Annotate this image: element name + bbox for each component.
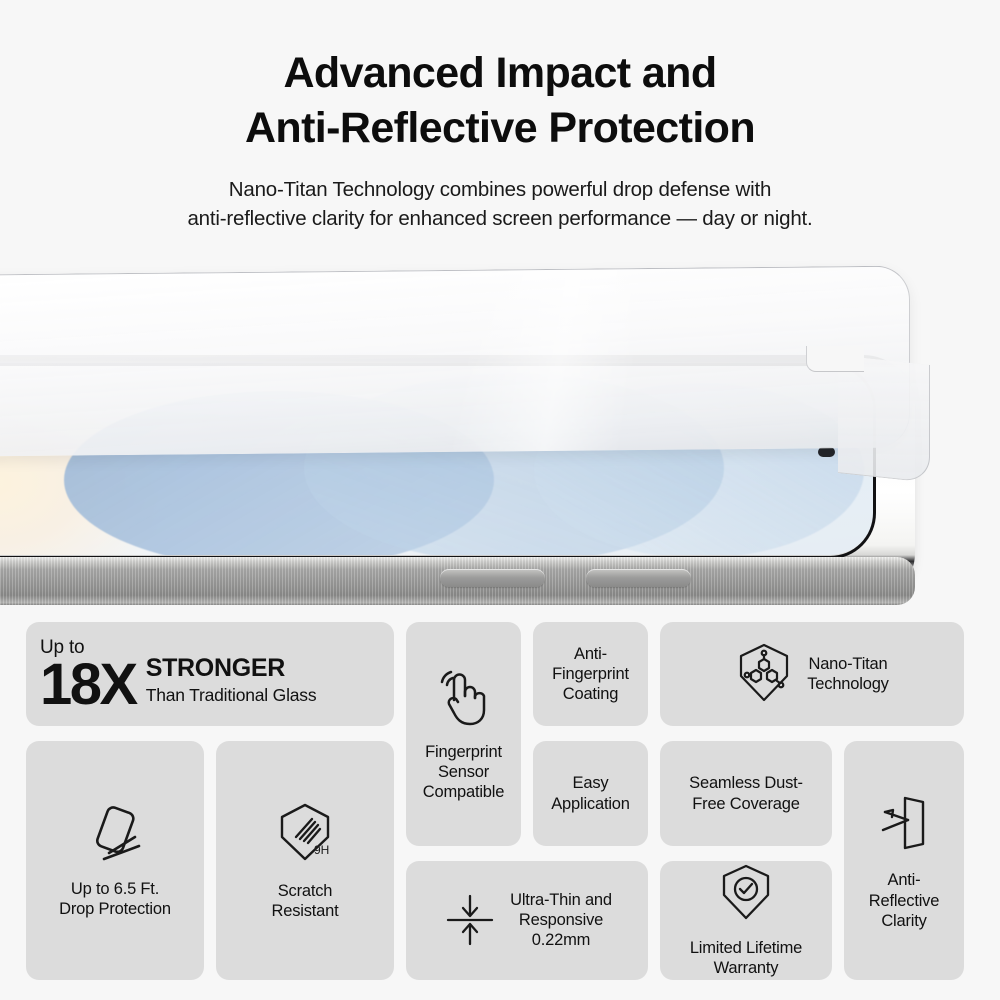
header-section: Advanced Impact and Anti-Reflective Prot… [0, 0, 1000, 233]
feature-card-warranty[interactable]: Limited LifetimeWarranty [660, 861, 832, 980]
thickness-arrows-icon [442, 890, 498, 950]
front-camera-icon [818, 447, 835, 457]
stronger-text: STRONGER Than Traditional Glass [146, 642, 317, 706]
phone-side-rail [0, 557, 915, 605]
glass-camera-cutout [806, 346, 864, 372]
falling-phone-icon [83, 803, 147, 865]
feature-card-fingerprint-sensor[interactable]: FingerprintSensorCompatible [406, 622, 521, 846]
feature-card-ultra-thin[interactable]: Ultra-Thin andResponsive0.22mm [406, 861, 648, 980]
feature-label-easy-application: EasyApplication [551, 773, 630, 813]
glass-corner-tail [838, 355, 930, 483]
feature-card-anti-reflective[interactable]: Anti-ReflectiveClarity [844, 741, 964, 980]
svg-text:9H: 9H [314, 843, 329, 857]
volume-down-button[interactable] [586, 569, 691, 587]
feature-card-nano-titan[interactable]: Nano-TitanTechnology [660, 622, 964, 726]
molecule-shield-icon [735, 642, 793, 706]
stronger-detail: Than Traditional Glass [146, 685, 317, 706]
feature-label-ultra-thin: Ultra-Thin andResponsive0.22mm [510, 890, 612, 950]
page-title: Advanced Impact and Anti-Reflective Prot… [0, 46, 1000, 155]
shield-check-icon [718, 862, 774, 924]
hero-product-image [0, 250, 1000, 605]
feature-card-easy-application[interactable]: EasyApplication [533, 741, 648, 845]
feature-label-warranty: Limited LifetimeWarranty [690, 938, 802, 978]
stronger-figure: Up to 18X [40, 638, 136, 710]
feature-card-drop-protection[interactable]: Up to 6.5 Ft.Drop Protection [26, 741, 204, 980]
stronger-multiplier: 18X [40, 659, 136, 710]
feature-card-scratch-resistant[interactable]: 9H ScratchResistant [216, 741, 394, 980]
feature-label-scratch-resistant: ScratchResistant [272, 881, 339, 921]
feature-card-stronger[interactable]: Up to 18X STRONGER Than Traditional Glas… [26, 622, 394, 726]
page-subtitle: Nano-Titan Technology combines powerful … [0, 175, 1000, 233]
feature-badge-grid: Up to 18X STRONGER Than Traditional Glas… [26, 622, 976, 980]
subtitle-line-1: Nano-Titan Technology combines powerful … [0, 175, 1000, 204]
feature-label-anti-fingerprint: Anti-FingerprintCoating [552, 644, 629, 704]
headline-line-1: Advanced Impact and [0, 46, 1000, 101]
feature-label-nano-titan: Nano-TitanTechnology [807, 654, 888, 694]
touch-hand-icon [437, 666, 491, 728]
feature-card-dust-free[interactable]: Seamless Dust-Free Coverage [660, 741, 832, 845]
headline-line-2: Anti-Reflective Protection [0, 101, 1000, 156]
feature-label-drop-protection: Up to 6.5 Ft.Drop Protection [59, 879, 171, 919]
shield-9h-icon: 9H [274, 801, 336, 867]
stronger-emphasis: STRONGER [146, 655, 285, 681]
glass-sheen [0, 267, 909, 457]
screen-protector-glass [0, 266, 910, 457]
feature-label-anti-reflective: Anti-ReflectiveClarity [869, 870, 939, 930]
feature-label-dust-free: Seamless Dust-Free Coverage [689, 773, 803, 813]
light-reflection-icon [875, 790, 933, 856]
volume-up-button[interactable] [440, 569, 545, 587]
subtitle-line-2: anti-reflective clarity for enhanced scr… [0, 204, 1000, 233]
feature-label-fingerprint-sensor: FingerprintSensorCompatible [423, 742, 504, 802]
feature-card-anti-fingerprint[interactable]: Anti-FingerprintCoating [533, 622, 648, 726]
